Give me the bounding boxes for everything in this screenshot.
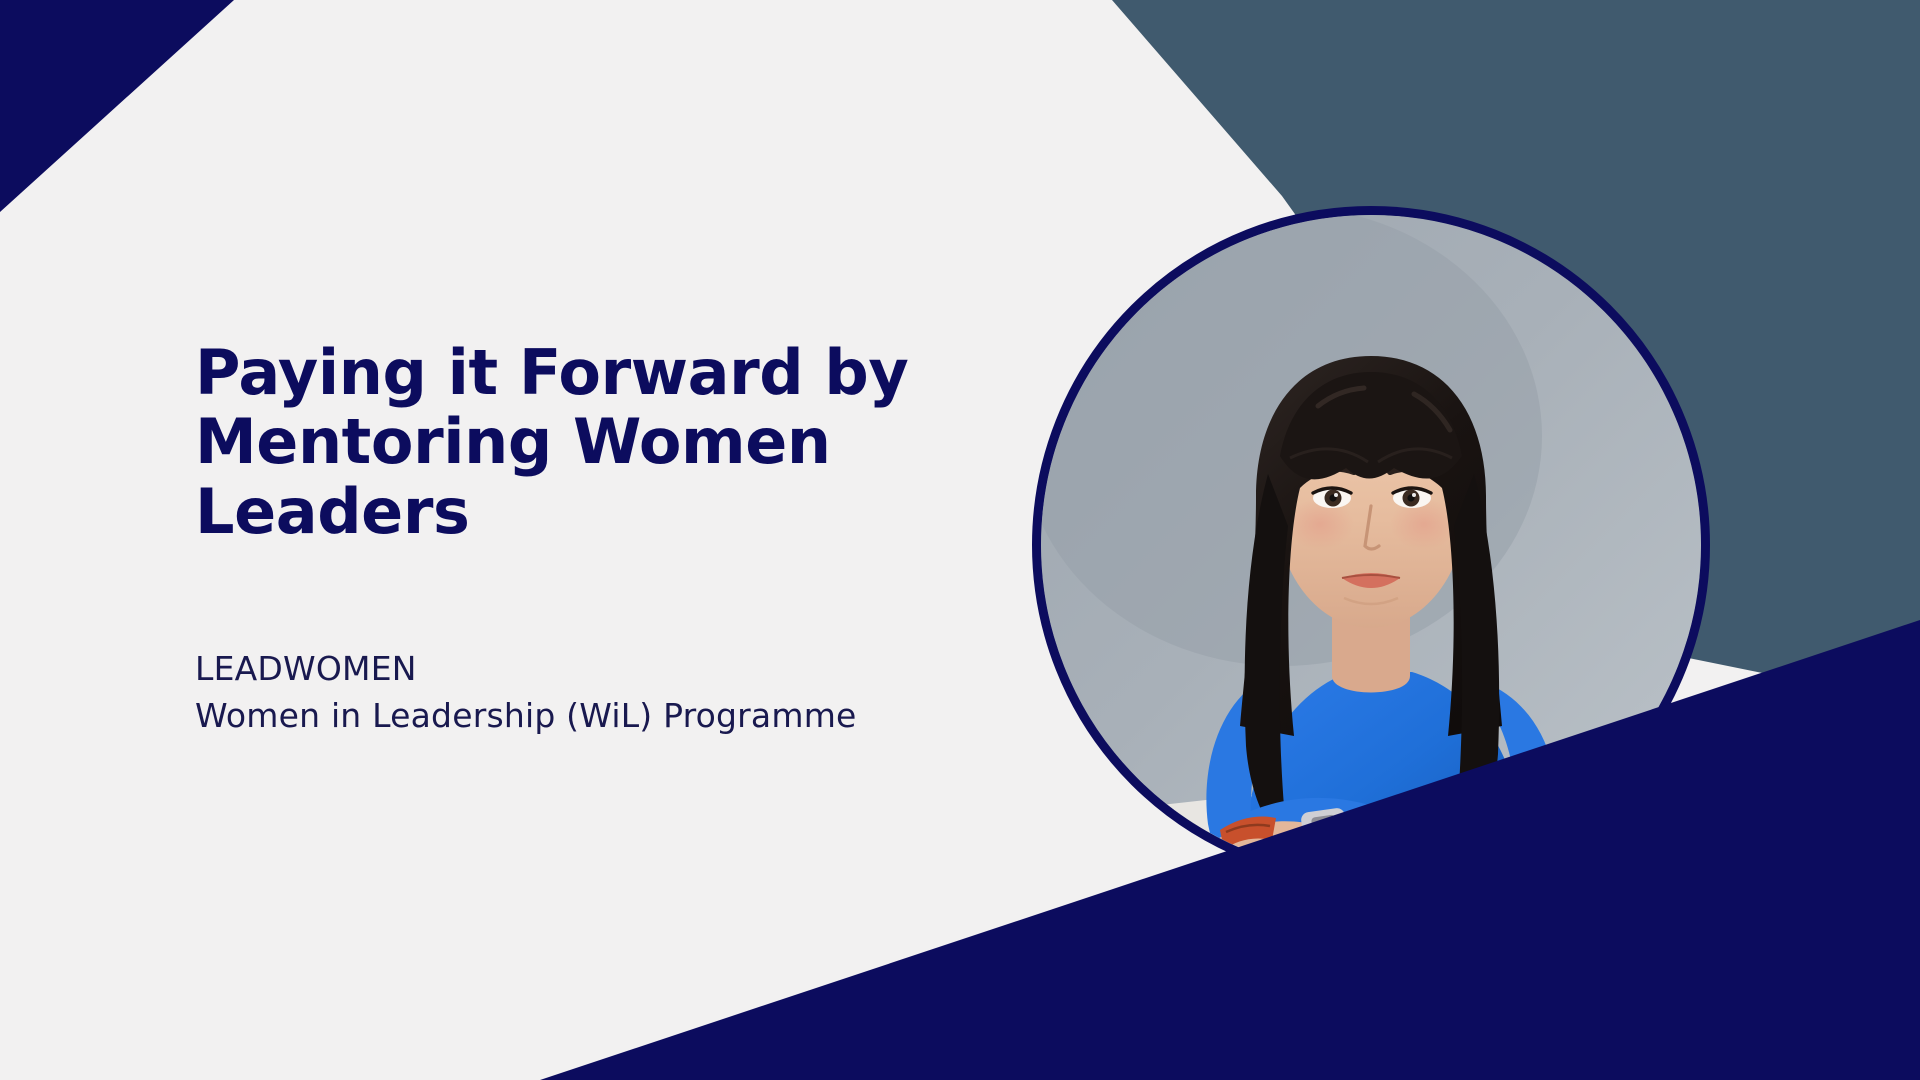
slide-text-block: Paying it Forward by Mentoring Women Lea…: [195, 338, 955, 740]
portrait-photo: [1032, 206, 1710, 884]
page-title: Paying it Forward by Mentoring Women Lea…: [195, 338, 955, 546]
portrait-ring: [1032, 206, 1710, 884]
organization-name: LEADWOMEN: [195, 646, 955, 693]
portrait-circle: [1032, 206, 1710, 884]
subtitle-block: LEADWOMEN Women in Leadership (WiL) Prog…: [195, 646, 955, 740]
presentation-slide: Paying it Forward by Mentoring Women Lea…: [0, 0, 1920, 1080]
programme-name: Women in Leadership (WiL) Programme: [195, 693, 955, 740]
